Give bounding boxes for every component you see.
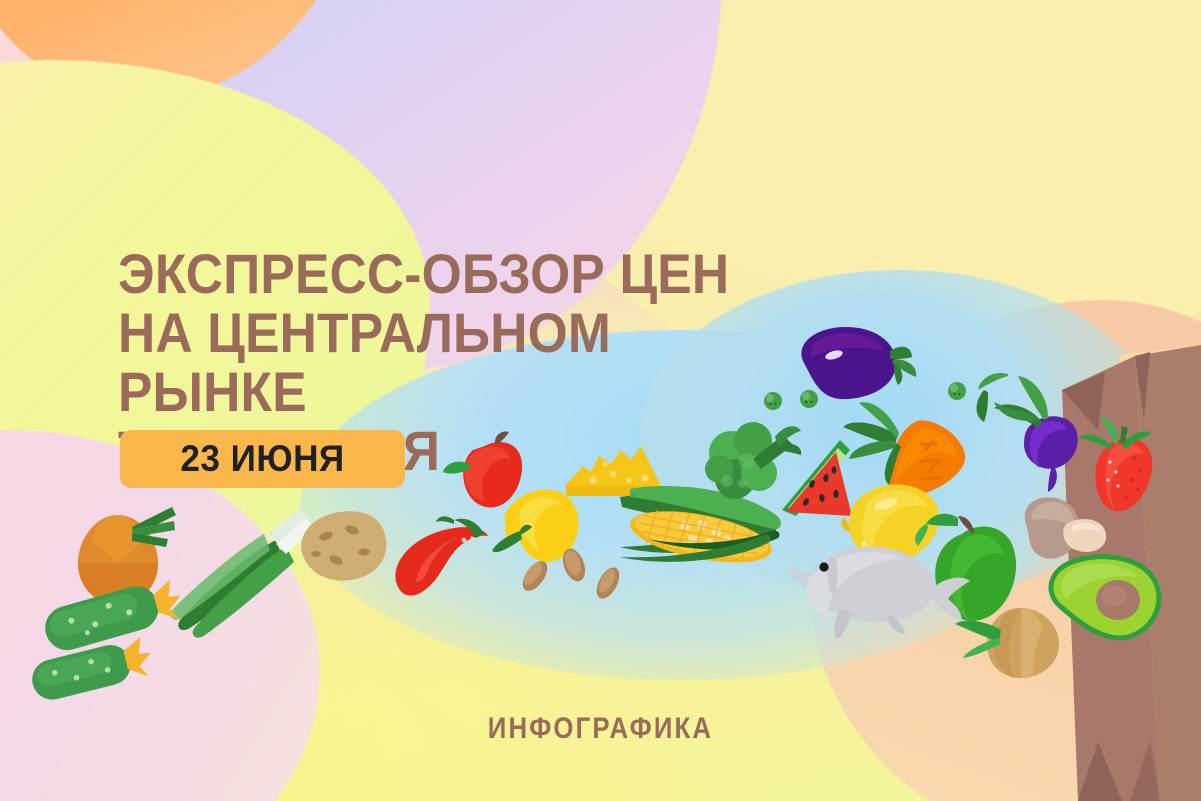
potato-icon (301, 511, 386, 580)
date-badge-label: 23 ИЮНЯ (180, 438, 344, 480)
cucumber-2-icon (28, 635, 156, 703)
poster-canvas: ЭКСПРЕСС-ОБЗОР ЦЕН НА ЦЕНТРАЛЬНОМ РЫНКЕ … (0, 0, 1201, 801)
date-badge[interactable]: 23 ИЮНЯ (120, 430, 405, 488)
corn-icon (620, 486, 781, 572)
green-onion-icon (171, 508, 314, 638)
chili-pepper-icon (396, 516, 488, 595)
footer-label: ИНФОГРАФИКА (84, 712, 1117, 746)
eggplant-icon (801, 327, 916, 399)
avocado-icon (1051, 557, 1159, 638)
